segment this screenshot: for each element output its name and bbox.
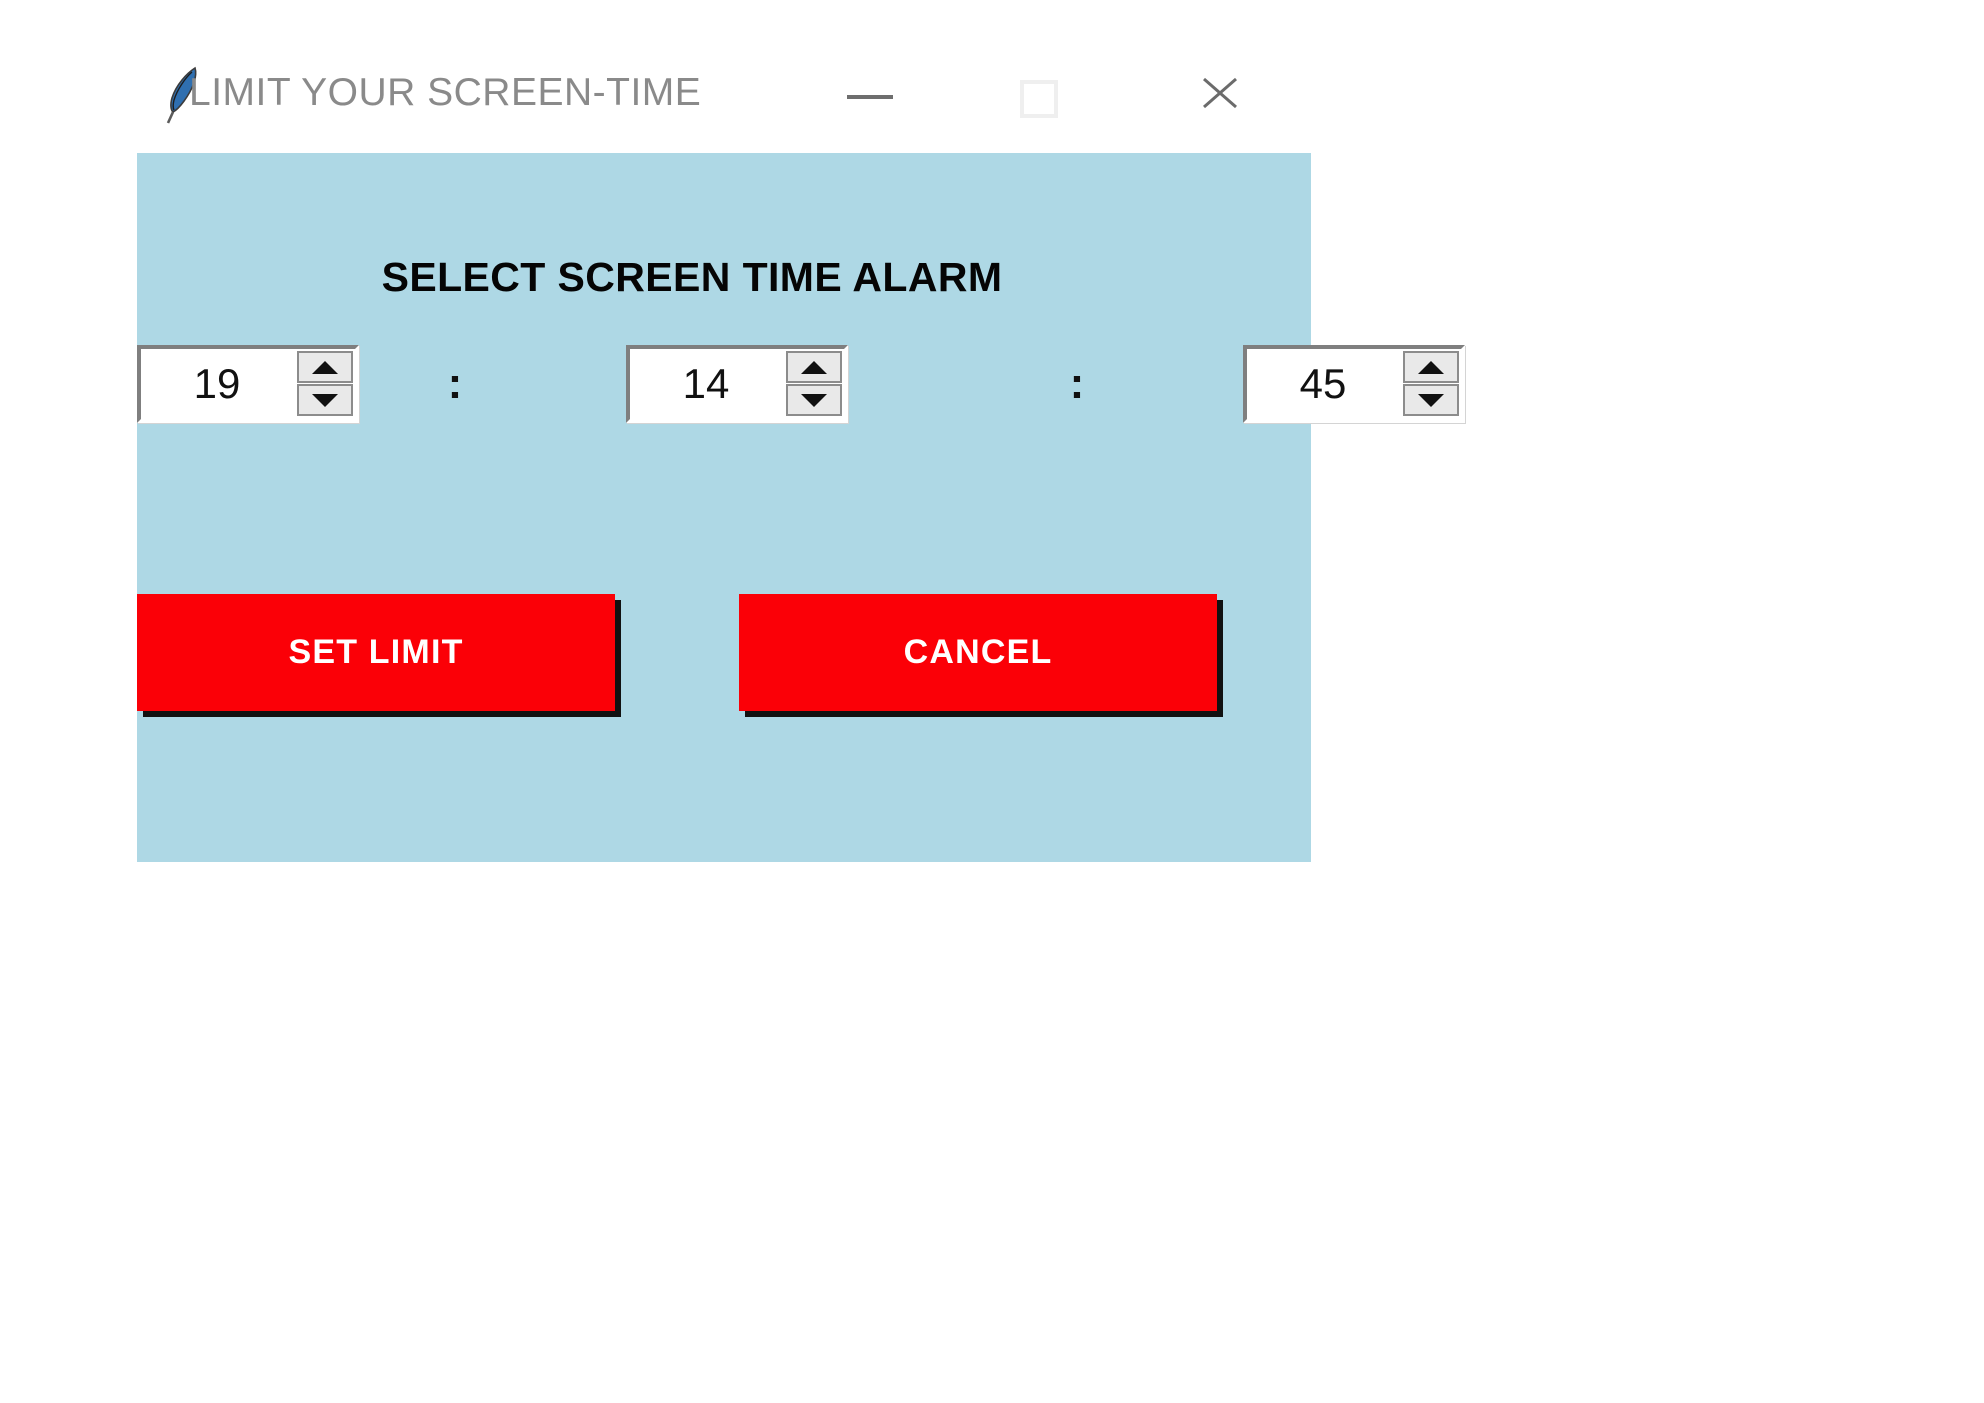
hours-increment-button[interactable] xyxy=(297,351,353,383)
spinner-up-arrow-icon xyxy=(312,361,338,374)
seconds-value[interactable]: 45 xyxy=(1247,349,1399,419)
time-separator-2: : xyxy=(1057,345,1097,423)
page-title: SELECT SCREEN TIME ALARM xyxy=(137,254,1247,301)
hours-value[interactable]: 19 xyxy=(141,349,293,419)
close-button[interactable] xyxy=(1183,62,1257,124)
time-selector: 19 : 14 xyxy=(137,345,1311,435)
minimize-icon xyxy=(847,95,893,99)
maximize-icon xyxy=(1020,80,1058,118)
spinner-up-arrow-icon xyxy=(801,361,827,374)
minutes-decrement-button[interactable] xyxy=(786,384,842,416)
seconds-increment-button[interactable] xyxy=(1403,351,1459,383)
set-limit-button[interactable]: SET LIMIT xyxy=(137,594,615,711)
spinner-down-arrow-icon xyxy=(801,394,827,407)
hours-spinner-arrows xyxy=(297,351,353,417)
minimize-button[interactable] xyxy=(833,62,907,124)
time-separator-1: : xyxy=(435,345,475,423)
content-panel: SELECT SCREEN TIME ALARM 19 : 14 xyxy=(137,153,1311,862)
action-button-row: SET LIMIT CANCEL xyxy=(137,594,1311,724)
seconds-spinner-arrows xyxy=(1403,351,1459,417)
hours-spinbox[interactable]: 19 xyxy=(137,345,359,423)
window-title: LIMIT YOUR SCREEN-TIME xyxy=(189,62,701,124)
seconds-spinbox[interactable]: 45 xyxy=(1243,345,1465,423)
minutes-spinbox[interactable]: 14 xyxy=(626,345,848,423)
cancel-button[interactable]: CANCEL xyxy=(739,594,1217,711)
application-window: LIMIT YOUR SCREEN-TIME SELECT SCREEN TIM… xyxy=(137,40,1311,862)
spinner-up-arrow-icon xyxy=(1418,361,1444,374)
seconds-decrement-button[interactable] xyxy=(1403,384,1459,416)
close-icon xyxy=(1183,62,1257,124)
maximize-button[interactable] xyxy=(1001,62,1075,124)
hours-decrement-button[interactable] xyxy=(297,384,353,416)
spinner-down-arrow-icon xyxy=(312,394,338,407)
minutes-spinner-arrows xyxy=(786,351,842,417)
minutes-increment-button[interactable] xyxy=(786,351,842,383)
minutes-value[interactable]: 14 xyxy=(630,349,782,419)
spinner-down-arrow-icon xyxy=(1418,394,1444,407)
window-title-bar[interactable]: LIMIT YOUR SCREEN-TIME xyxy=(137,40,1311,153)
